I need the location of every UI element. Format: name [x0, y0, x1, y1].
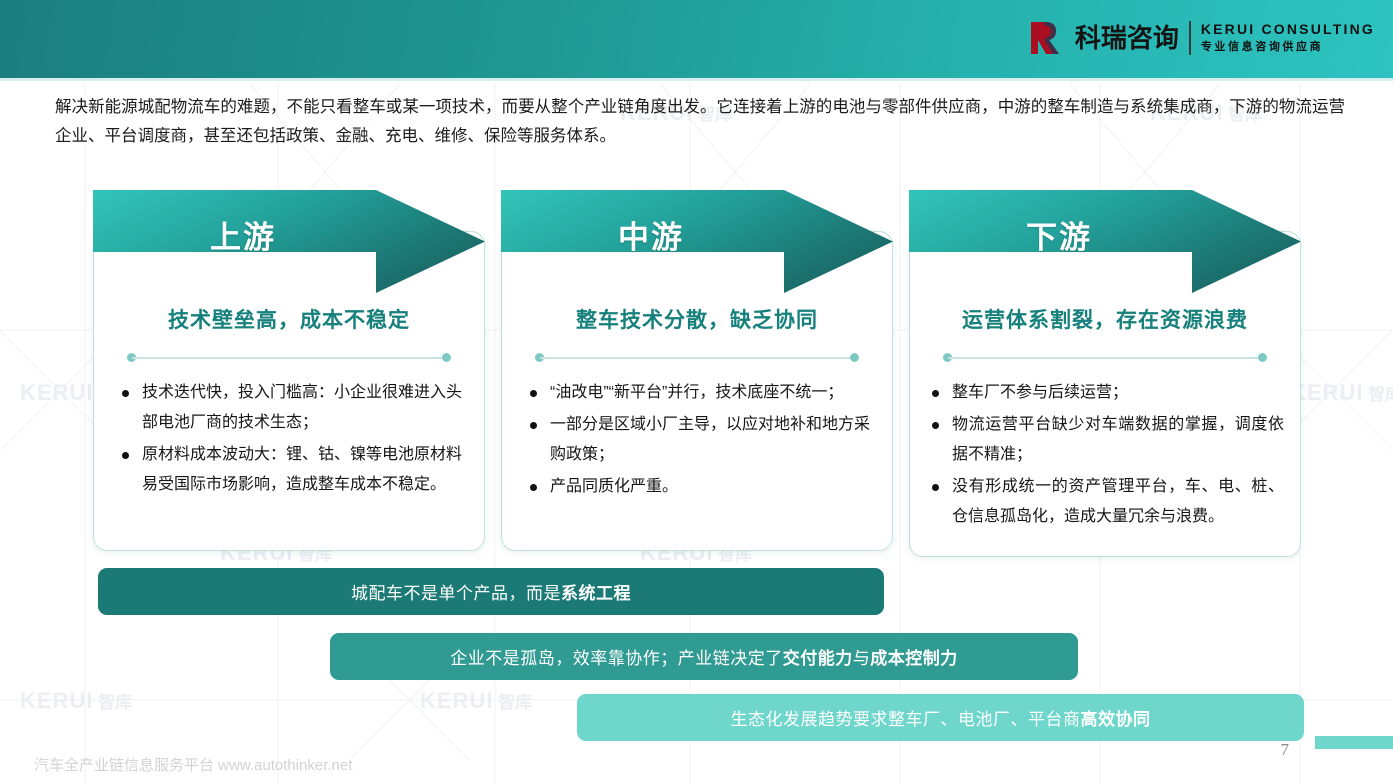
conclusion-banner-2: 企业不是孤岛，效率靠协作；产业链决定了交付能力与成本控制力 [330, 633, 1078, 680]
list-item: “油改电”“新平台”并行，技术底座不统一； [528, 378, 870, 408]
bullet-list-midstream: “油改电”“新平台”并行，技术底座不统一； 一部分是区域小厂主导，以应对地补和地… [502, 378, 892, 502]
kerui-r-mark-icon [1029, 18, 1069, 58]
slide: KERUI 智库KERUI 智库KERUI 智库KERUI 智库KERUI 智库… [0, 0, 1393, 784]
stage-label-midstream: 中游 [501, 190, 801, 278]
card-heading-midstream: 整车技术分散，缺乏协同 [502, 308, 892, 333]
list-item: 一部分是区域小厂主导，以应对地补和地方采购政策； [528, 410, 870, 470]
watermark-kerui-3: KERUI 智库 [1290, 380, 1393, 406]
logo-divider [1189, 21, 1191, 55]
stage-card-downstream[interactable]: 下游 运营体系割裂，存在资源浪费 整车厂不参与后续运营； 物流运营平台缺少对车端… [909, 190, 1301, 557]
bullet-list-downstream: 整车厂不参与后续运营； 物流运营平台缺少对车端数据的掌握，调度依据不精准； 没有… [910, 378, 1300, 532]
header-underline [0, 78, 1393, 81]
card-divider [127, 353, 451, 362]
watermark-kerui-1: KERUI 智库 [420, 688, 532, 714]
logo-name-en: KERUI CONSULTING [1201, 21, 1375, 39]
list-item: 没有形成统一的资产管理平台，车、电、桩、仓信息孤岛化，造成大量冗余与浪费。 [930, 472, 1284, 532]
stage-arrow-midstream: 中游 [501, 190, 893, 293]
divider-dot-right [1258, 353, 1267, 362]
card-heading-downstream: 运营体系割裂，存在资源浪费 [910, 308, 1300, 333]
banner-1-text: 城配车不是单个产品，而是系统工程 [351, 579, 631, 604]
brand-logo: 科瑞咨询 KERUI CONSULTING 专业信息咨询供应商 [1029, 14, 1375, 62]
conclusion-banner-1: 城配车不是单个产品，而是系统工程 [98, 568, 884, 615]
page-number: 7 [1281, 740, 1290, 760]
divider-dot-right [850, 353, 859, 362]
list-item: 整车厂不参与后续运营； [930, 378, 1284, 408]
stage-card-upstream[interactable]: 上游 技术壁垒高，成本不稳定 技术迭代快，投入门槛高：小企业很难进入头部电池厂商… [93, 190, 485, 551]
logo-name-cn: 科瑞咨询 [1075, 25, 1179, 51]
card-divider [943, 353, 1267, 362]
logo-text-en: KERUI CONSULTING 专业信息咨询供应商 [1201, 21, 1375, 54]
footer-platform-text: 汽车全产业链信息服务平台 www.autothinker.net [34, 754, 352, 775]
card-divider [535, 353, 859, 362]
conclusion-banner-3: 生态化发展趋势要求整车厂、电池厂、平台商高效协同 [577, 694, 1304, 741]
logo-tagline: 专业信息咨询供应商 [1201, 41, 1375, 55]
stage-arrow-downstream: 下游 [909, 190, 1301, 293]
stage-card-midstream[interactable]: 中游 整车技术分散，缺乏协同 “油改电”“新平台”并行，技术底座不统一； 一部分… [501, 190, 893, 551]
divider-line [132, 357, 446, 359]
list-item: 产品同质化严重。 [528, 472, 870, 502]
list-item: 技术迭代快，投入门槛高：小企业很难进入头部电池厂商的技术生态； [120, 378, 462, 438]
card-heading-upstream: 技术壁垒高，成本不稳定 [94, 308, 484, 333]
divider-line [540, 357, 854, 359]
list-item: 原材料成本波动大：锂、钴、镍等电池原材料易受国际市场影响，造成整车成本不稳定。 [120, 440, 462, 500]
intro-paragraph: 解决新能源城配物流车的难题，不能只看整车或某一项技术，而要从整个产业链角度出发。… [55, 93, 1345, 151]
divider-line [948, 357, 1262, 359]
divider-dot-right [442, 353, 451, 362]
banner-2-text: 企业不是孤岛，效率靠协作；产业链决定了交付能力与成本控制力 [450, 644, 958, 669]
stage-arrow-upstream: 上游 [93, 190, 485, 293]
bullet-list-upstream: 技术迭代快，投入门槛高：小企业很难进入头部电池厂商的技术生态； 原材料成本波动大… [94, 378, 484, 500]
banner-3-text: 生态化发展趋势要求整车厂、电池厂、平台商高效协同 [731, 705, 1151, 730]
stage-label-downstream: 下游 [909, 190, 1209, 278]
watermark-kerui-2: KERUI 智库 [20, 688, 132, 714]
stage-label-upstream: 上游 [93, 190, 393, 278]
footer-accent-bar [1315, 736, 1393, 749]
list-item: 物流运营平台缺少对车端数据的掌握，调度依据不精准； [930, 410, 1284, 470]
